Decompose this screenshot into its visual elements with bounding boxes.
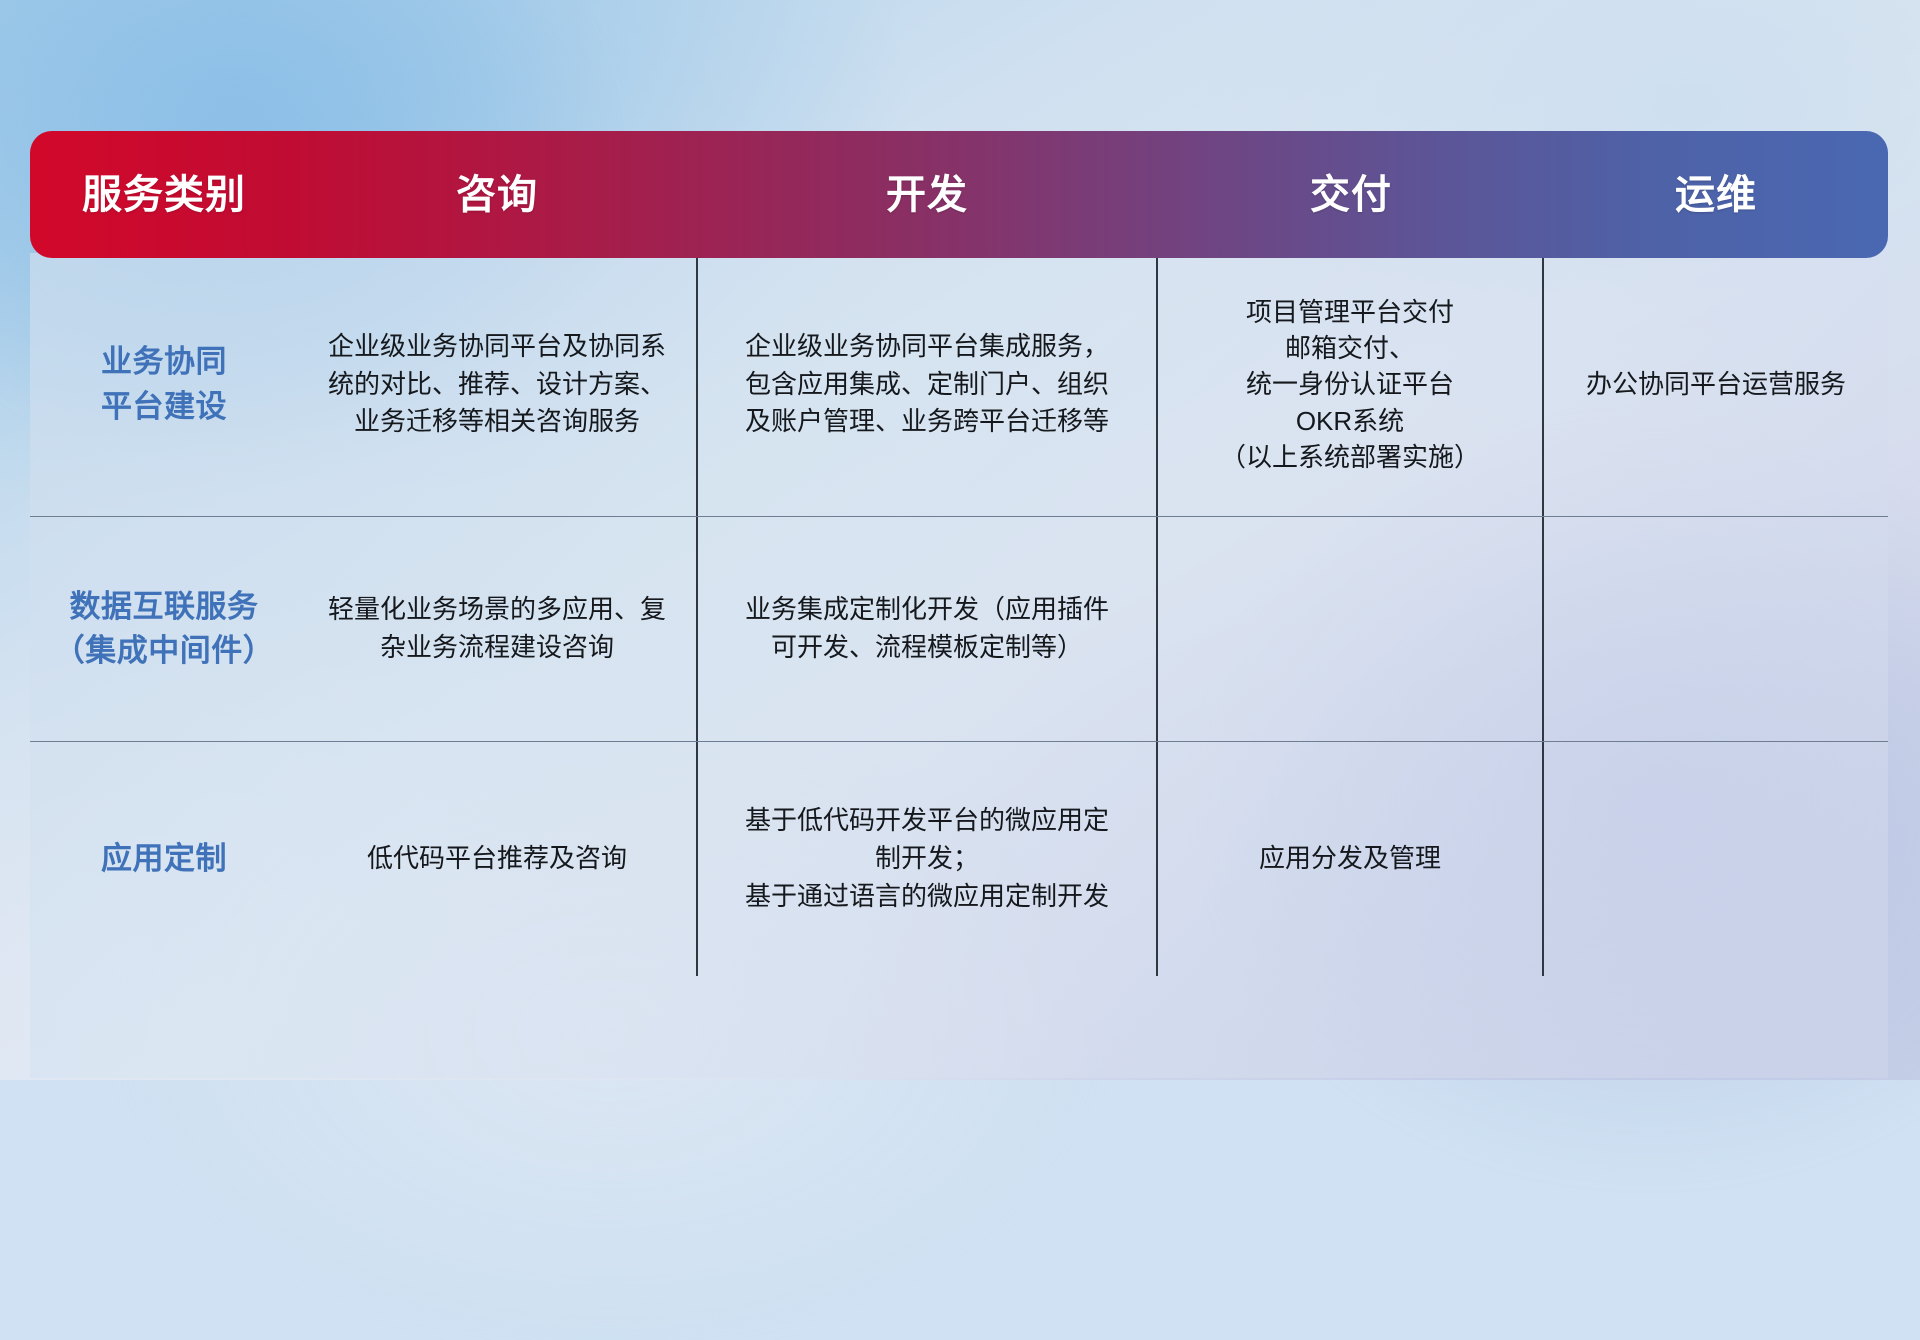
- table-grid: 业务协同 平台建设 企业级业务协同平台及协同系 统的对比、推荐、设计方案、 业务…: [30, 253, 1888, 976]
- row-category-cell: 业务协同 平台建设: [30, 253, 298, 516]
- row-consulting-cell: 企业级业务协同平台及协同系 统的对比、推荐、设计方案、 业务迁移等相关咨询服务: [298, 253, 696, 516]
- table-header-service-category: 服务类别: [30, 175, 298, 215]
- row-delivery-cell: 项目管理平台交付 邮箱交付、 统一身份认证平台 OKR系统 （以上系统部署实施）: [1158, 253, 1544, 516]
- row-category-cell: 数据互联服务 （集成中间件）: [30, 517, 298, 741]
- row-development-cell: 业务集成定制化开发（应用插件 可开发、流程模板定制等）: [696, 517, 1158, 741]
- table-header-operations: 运维: [1544, 175, 1888, 215]
- table-header-delivery: 交付: [1158, 175, 1544, 215]
- row-category-label: 数据互联服务 （集成中间件）: [54, 585, 275, 673]
- row-delivery-text: 应用分发及管理: [1259, 840, 1441, 878]
- row-consulting-text: 低代码平台推荐及咨询: [367, 840, 627, 878]
- row-development-text: 基于低代码开发平台的微应用定 制开发； 基于通过语言的微应用定制开发: [745, 802, 1109, 916]
- table-header-development: 开发: [696, 175, 1158, 215]
- row-operations-cell: [1544, 517, 1888, 741]
- row-consulting-cell: 低代码平台推荐及咨询: [298, 742, 696, 976]
- row-category-label: 应用定制: [101, 837, 227, 881]
- table-header-row: 服务类别 咨询 开发 交付 运维: [30, 131, 1888, 258]
- table-header-consulting: 咨询: [298, 175, 696, 215]
- row-development-text: 企业级业务协同平台集成服务， 包含应用集成、定制门户、组织 及账户管理、业务跨平…: [745, 328, 1109, 442]
- table-row: 业务协同 平台建设 企业级业务协同平台及协同系 统的对比、推荐、设计方案、 业务…: [30, 253, 1888, 516]
- row-consulting-text: 轻量化业务场景的多应用、复 杂业务流程建设咨询: [328, 591, 666, 667]
- row-operations-cell: [1544, 742, 1888, 976]
- row-delivery-cell: [1158, 517, 1544, 741]
- service-matrix-table: 服务类别 咨询 开发 交付 运维 业务协同 平台建设 企业级业务协同平台及协同系…: [30, 131, 1888, 951]
- row-development-cell: 基于低代码开发平台的微应用定 制开发； 基于通过语言的微应用定制开发: [696, 742, 1158, 976]
- row-delivery-text: 项目管理平台交付 邮箱交付、 统一身份认证平台 OKR系统 （以上系统部署实施）: [1220, 294, 1480, 476]
- table-row: 应用定制 低代码平台推荐及咨询 基于低代码开发平台的微应用定 制开发； 基于通过…: [30, 741, 1888, 976]
- row-category-cell: 应用定制: [30, 742, 298, 976]
- row-operations-cell: 办公协同平台运营服务: [1544, 253, 1888, 516]
- row-consulting-cell: 轻量化业务场景的多应用、复 杂业务流程建设咨询: [298, 517, 696, 741]
- row-category-label: 业务协同 平台建设: [101, 340, 227, 428]
- row-consulting-text: 企业级业务协同平台及协同系 统的对比、推荐、设计方案、 业务迁移等相关咨询服务: [328, 328, 666, 442]
- row-operations-text: 办公协同平台运营服务: [1586, 366, 1846, 404]
- row-development-cell: 企业级业务协同平台集成服务， 包含应用集成、定制门户、组织 及账户管理、业务跨平…: [696, 253, 1158, 516]
- row-delivery-cell: 应用分发及管理: [1158, 742, 1544, 976]
- table-row: 数据互联服务 （集成中间件） 轻量化业务场景的多应用、复 杂业务流程建设咨询 业…: [30, 516, 1888, 741]
- row-development-text: 业务集成定制化开发（应用插件 可开发、流程模板定制等）: [745, 591, 1109, 667]
